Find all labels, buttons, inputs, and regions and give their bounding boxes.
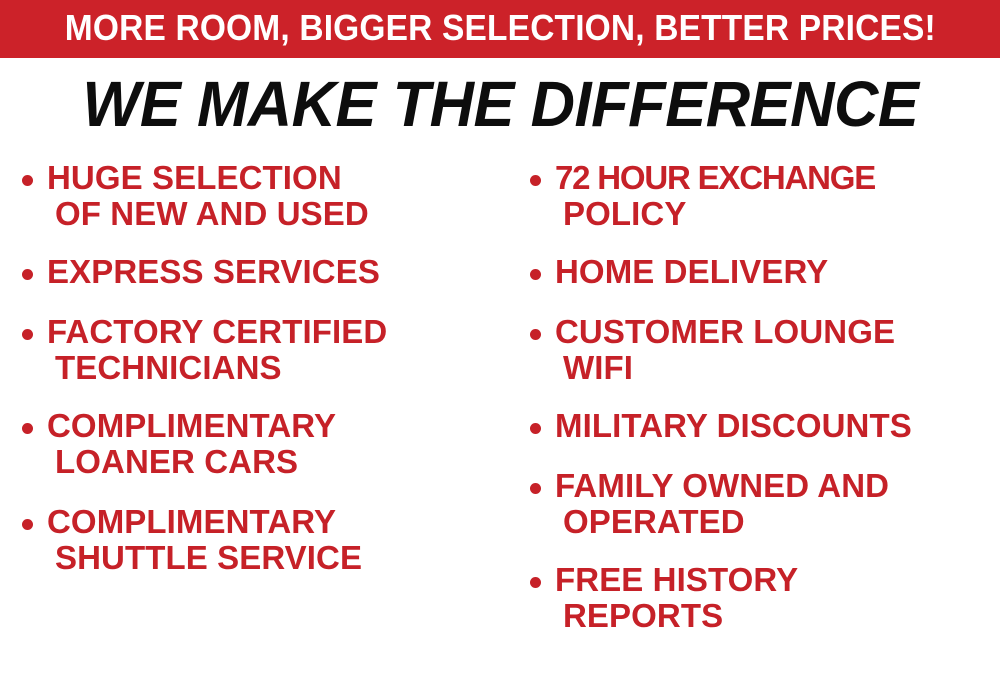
benefits-column-left: HUGE SELECTIONOF NEW AND USEDEXPRESS SER… xyxy=(0,160,505,694)
benefit-item-label: HUGE SELECTIONOF NEW AND USED xyxy=(47,160,369,232)
bullet-dot-icon xyxy=(22,423,33,434)
benefit-item-label: COMPLIMENTARYSHUTTLE SERVICE xyxy=(47,504,362,576)
benefits-columns: HUGE SELECTIONOF NEW AND USEDEXPRESS SER… xyxy=(0,160,1000,694)
benefit-item-line: FAMILY OWNED AND xyxy=(555,468,889,504)
benefit-item-line: REPORTS xyxy=(555,598,798,634)
benefit-item: FREE HISTORYREPORTS xyxy=(530,562,1000,634)
benefit-item: MILITARY DISCOUNTS xyxy=(530,408,1000,444)
benefit-item: FAMILY OWNED ANDOPERATED xyxy=(530,468,1000,540)
benefit-item-line: OF NEW AND USED xyxy=(47,196,369,232)
benefit-item-label: FAMILY OWNED ANDOPERATED xyxy=(555,468,889,540)
benefit-item: HUGE SELECTIONOF NEW AND USED xyxy=(22,160,505,232)
bullet-dot-icon xyxy=(530,483,541,494)
bullet-dot-icon xyxy=(530,329,541,340)
benefit-item-label: EXPRESS SERVICES xyxy=(47,254,380,290)
benefit-item-line: FACTORY CERTIFIED xyxy=(47,314,387,350)
benefit-item-line: TECHNICIANS xyxy=(47,350,387,386)
benefit-item: 72 HOUR EXCHANGEPOLICY xyxy=(530,160,1000,232)
bullet-dot-icon xyxy=(530,175,541,186)
bullet-dot-icon xyxy=(530,423,541,434)
benefit-item-line: FREE HISTORY xyxy=(555,562,798,598)
benefit-item-line: EXPRESS SERVICES xyxy=(47,254,380,290)
benefit-item-line: COMPLIMENTARY xyxy=(47,504,362,540)
benefit-item-line: 72 HOUR EXCHANGE xyxy=(555,160,875,196)
headline-text: WE MAKE THE DIFFERENCE xyxy=(82,72,918,136)
benefit-item-label: FACTORY CERTIFIEDTECHNICIANS xyxy=(47,314,387,386)
benefit-item-line: POLICY xyxy=(555,196,875,232)
benefit-item-label: 72 HOUR EXCHANGEPOLICY xyxy=(555,160,875,232)
benefit-item-line: LOANER CARS xyxy=(47,444,336,480)
benefit-item-label: HOME DELIVERY xyxy=(555,254,828,290)
dealership-benefits-ad: MORE ROOM, BIGGER SELECTION, BETTER PRIC… xyxy=(0,0,1000,694)
benefit-item-label: CUSTOMER LOUNGEWIFI xyxy=(555,314,895,386)
benefit-item-line: SHUTTLE SERVICE xyxy=(47,540,362,576)
top-promo-banner-text: MORE ROOM, BIGGER SELECTION, BETTER PRIC… xyxy=(64,10,935,48)
benefit-item-line: HUGE SELECTION xyxy=(47,160,369,196)
benefit-item-line: COMPLIMENTARY xyxy=(47,408,336,444)
benefit-item: HOME DELIVERY xyxy=(530,254,1000,290)
benefit-item-line: HOME DELIVERY xyxy=(555,254,828,290)
benefit-item: COMPLIMENTARYSHUTTLE SERVICE xyxy=(22,504,505,576)
benefit-item-label: FREE HISTORYREPORTS xyxy=(555,562,798,634)
benefit-item-label: COMPLIMENTARYLOANER CARS xyxy=(47,408,336,480)
benefit-item-line: WIFI xyxy=(555,350,895,386)
top-promo-banner: MORE ROOM, BIGGER SELECTION, BETTER PRIC… xyxy=(0,0,1000,58)
benefits-column-right: 72 HOUR EXCHANGEPOLICYHOME DELIVERYCUSTO… xyxy=(505,160,1000,694)
bullet-dot-icon xyxy=(22,329,33,340)
benefit-item-line: OPERATED xyxy=(555,504,889,540)
benefit-item: FACTORY CERTIFIEDTECHNICIANS xyxy=(22,314,505,386)
benefit-item-label: MILITARY DISCOUNTS xyxy=(555,408,912,444)
bullet-dot-icon xyxy=(530,269,541,280)
benefit-item: EXPRESS SERVICES xyxy=(22,254,505,290)
bullet-dot-icon xyxy=(22,519,33,530)
benefit-item: COMPLIMENTARYLOANER CARS xyxy=(22,408,505,480)
bullet-dot-icon xyxy=(22,269,33,280)
benefit-item-line: MILITARY DISCOUNTS xyxy=(555,408,912,444)
headline: WE MAKE THE DIFFERENCE xyxy=(0,72,1000,136)
benefit-item-line: CUSTOMER LOUNGE xyxy=(555,314,895,350)
benefit-item: CUSTOMER LOUNGEWIFI xyxy=(530,314,1000,386)
bullet-dot-icon xyxy=(530,577,541,588)
bullet-dot-icon xyxy=(22,175,33,186)
